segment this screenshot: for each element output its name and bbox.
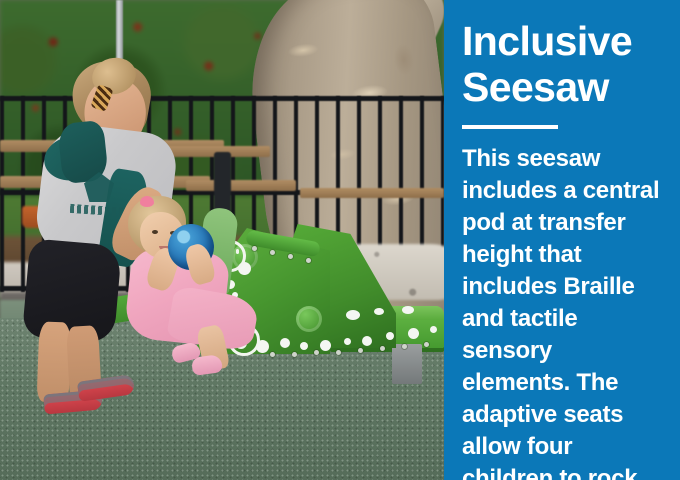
page-title: Inclusive Seesaw (462, 18, 660, 110)
picnic-bench-seat (186, 180, 296, 191)
inclusive-seesaw-info-card: Inclusive Seesaw This seesaw includes a … (0, 0, 680, 480)
description-text: This seesaw includes a central pod at tr… (462, 143, 660, 480)
info-panel: Inclusive Seesaw This seesaw includes a … (444, 0, 680, 480)
seesaw-support-leg (392, 344, 422, 384)
child-eye (152, 230, 158, 234)
seesaw-pivot-hub (232, 244, 258, 270)
child-hair-bow (140, 196, 154, 207)
picnic-bench-seat (300, 188, 444, 198)
seesaw-pivot-hub (296, 306, 322, 332)
adult-leg (37, 321, 72, 402)
title-divider (462, 125, 558, 129)
playground-photo (0, 0, 444, 480)
